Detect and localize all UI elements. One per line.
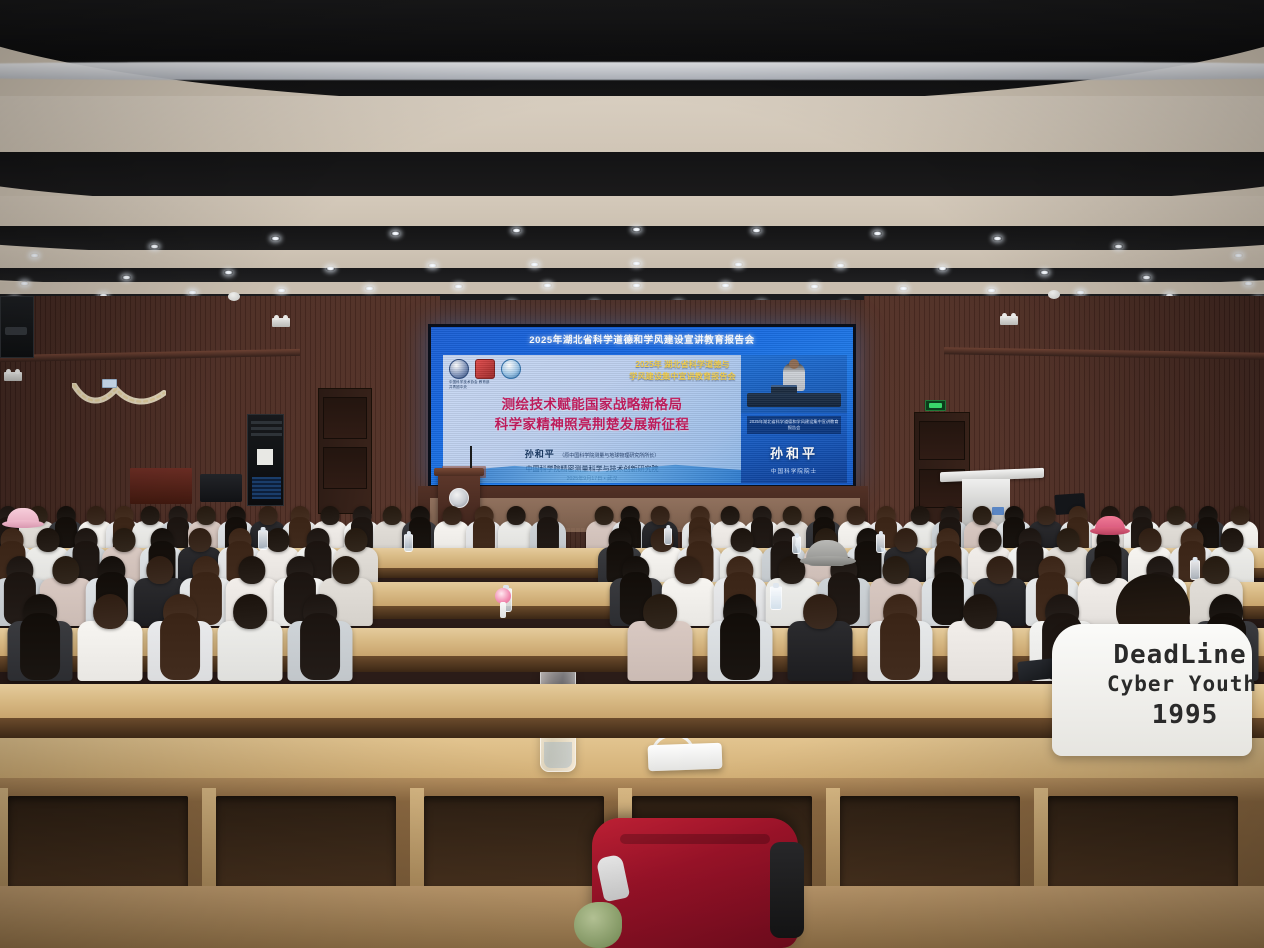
audience-member-head [345,528,368,552]
slide-speaker-name: 孙和平 [525,447,555,460]
audience-member-torso [628,621,693,681]
university-emblem-icon [449,488,469,508]
ceiling-downlight [530,262,539,267]
smoke-detector-right [1048,290,1060,299]
ceiling-downlight [512,228,521,233]
door-panel [919,421,965,460]
audience-member-long-hair [160,613,200,680]
audience-member-head [973,506,992,525]
audience-member-head [113,528,136,552]
rack-vent [251,427,282,430]
speaker-photo-desk [747,393,841,407]
audience-member-long-hair [932,572,964,626]
desk-divider [0,788,8,896]
door-panel [323,397,367,439]
ceiling-light-strip [0,62,1264,80]
baseball-cap-gray [800,540,856,568]
ceiling-downlight [1234,253,1243,258]
audience-member-head [93,594,127,629]
door-panel [323,447,367,489]
audience-member-head [443,506,462,525]
side-panel-speaker-title: 中国科学院院士 [771,467,817,475]
ceiling-downlight [150,244,159,249]
rack-vent [251,433,282,436]
desk-bottle [258,530,268,550]
ceiling-downlight [1142,275,1151,280]
ceiling-downlight [632,261,641,266]
audience-member-head [87,506,106,525]
balloon-garland-decoration [72,383,166,409]
ceiling-downlight [20,281,29,286]
speaker-photo [741,355,847,413]
audience-member-head [383,506,402,525]
audience-member-head [731,528,754,552]
audience-member-head [267,528,290,552]
side-panel-speaker-name: 孙和平 [770,443,818,462]
desk-divider [826,788,840,896]
audience-member-head [321,506,340,525]
led-wall-screen: 2025年湖北省科学道德和学风建设宣讲教育报告会 中国科学技术协会 教育部 共青… [428,324,856,488]
bottle-cap [666,525,670,530]
desk-cubby [216,796,396,888]
av-equipment-box [200,474,242,502]
moe-emblem-icon [475,359,495,379]
bottle-cap [261,527,266,532]
audience-member-head [146,556,173,584]
audience-member-head [979,528,1002,552]
auditorium-ceiling [0,0,1264,332]
audience-member-head [911,506,930,525]
bottle-cap [406,531,410,536]
exit-icon [929,403,942,408]
desk-cubby [1048,796,1238,888]
garland-card [102,379,117,388]
handheld-fan [494,588,512,618]
audience-member-long-hair [720,613,760,680]
audience-member-head [233,594,267,629]
audience-member-head [963,594,997,629]
audience-member-head [52,556,79,584]
audience-member-head [1090,556,1117,584]
audience-member-head [882,556,909,584]
rack-vent [251,421,282,424]
audience-member-head [1139,528,1162,552]
desk-cubby [424,796,604,888]
audience-member-long-hair [880,613,920,680]
audience-member-head [986,556,1013,584]
speaker-grille [5,327,27,335]
logo-caption-line1: 中国科学技术协会 教育部 [449,380,490,384]
rack-label [257,449,273,465]
ceiling-downlight [1114,244,1123,249]
presentation-slide: 中国科学技术协会 教育部 共青团中央 2025年 湖北省科学道德与 学风建设集中… [443,355,847,483]
audience-member-long-hair [20,613,60,680]
audience-member-head [595,506,614,525]
audience-member-head [847,506,866,525]
audience-member-head [895,528,918,552]
desk-cubby [8,796,188,888]
emergency-light-center-left [272,318,290,327]
audience-member-head [37,528,60,552]
baseball-cap-pink [1090,516,1130,536]
bottle-water [544,742,572,768]
audience-member-head [783,506,802,525]
ceiling-downlight [938,266,947,271]
podium-top [434,468,484,476]
audience-member-head [643,594,677,629]
tshirt-text-line2: Cyber Youth [1092,672,1264,696]
backpack-charm [596,854,631,902]
ceiling-dark-band-1 [0,0,1264,106]
desk-divider [202,788,216,896]
desk-bottle [664,528,672,545]
audience-member-head [1221,528,1244,552]
side-table [130,468,192,504]
desk-cubby [840,796,1020,888]
slide-title-line2: 科学家精神照亮荆楚发展新征程 [449,415,735,435]
baseball-cap-light-pink [2,508,44,530]
audience-member-head [189,528,212,552]
desk-bottle [404,534,413,552]
audience-member-long-hair [300,613,340,680]
hall-banner-text: 2025年湖北省科学道德和学风建设宣讲教育报告会 [431,332,853,346]
backpack-strap [620,834,770,844]
emergency-light-right [1000,316,1018,325]
rack-status-leds [252,477,281,499]
audience-member-head [1037,506,1056,525]
audience-member-head [1057,528,1080,552]
audience-member-head [507,506,526,525]
desk-divider [1034,788,1048,896]
audience-member-head [141,506,160,525]
ceiling-downlight [987,288,996,293]
ceiling-downlight [365,286,374,291]
speaker-photo-head [789,359,799,369]
slide-side-panel: 2025年湖北省科学道德和学风建设集中宣讲教育报告会 孙和平 中国科学院院士 [741,355,847,483]
slide-main-panel: 中国科学技术协会 教育部 共青团中央 2025年 湖北省科学道德与 学风建设集中… [443,355,741,483]
audience-member-torso [948,621,1013,681]
side-panel-caption: 2025年湖北省科学道德和学风建设集中宣讲教育报告会 [747,416,841,434]
slide-title: 测绘技术赋能国家战略新格局 科学家精神照亮荆楚发展新征程 [449,395,735,434]
audience-member-torso [788,621,853,681]
audience-member-head [803,594,837,629]
bottle-cap [1193,557,1198,562]
emergency-light-left [4,372,22,381]
side-door-left[interactable] [318,388,372,514]
slide-title-line1: 测绘技术赋能国家战略新格局 [449,395,735,415]
audience-member-head [259,506,278,525]
bottle-cap [773,583,779,588]
wall-speaker-box [0,296,34,358]
desk-bottle [1190,560,1200,580]
cyl-emblem-icon [501,359,521,379]
ceiling-downlight [1244,281,1253,286]
smoke-detector-left [228,292,240,301]
audience-member-head [238,556,265,584]
backpack-green-object [574,902,622,948]
desk-divider [410,788,424,896]
ceiling-downlight [224,270,233,275]
ceiling-downlight [632,227,641,232]
ceiling-downlight [277,288,286,293]
ceiling-downlight [326,266,335,271]
backpack-side-pocket [770,842,804,938]
audience-member-head [332,556,359,584]
cast-emblem-icon [449,359,469,379]
audience-member-head [674,556,701,584]
audience-member-head [651,506,670,525]
desk-bottle [876,534,885,553]
audience-member-head [1167,506,1186,525]
server-rack [247,414,284,506]
screen-surface: 2025年湖北省科学道德和学风建设宣讲教育报告会 中国科学技术协会 教育部 共青… [431,327,853,485]
ceiling-downlight [30,253,39,258]
audience-member-torso [218,621,283,681]
ceiling-downlight [122,275,131,280]
red-backpack [592,818,798,948]
lectern-badge [992,507,1004,515]
bottle-cap [878,531,882,536]
ceiling-downlight [734,262,743,267]
logo-caption-line2: 共青团中央 [449,385,467,389]
audience-member-head [1202,556,1229,584]
audience-member-torso [78,621,143,681]
audience-member-head [197,506,216,525]
exit-sign [925,400,946,411]
power-bank-charger [648,743,723,772]
tshirt-text-line1: DeadLine [1090,640,1264,670]
tshirt-text-line3: 1995 [1110,700,1260,730]
ceiling-downlight [873,231,882,236]
bottle-cap [794,533,798,538]
ceiling-downlight [1040,270,1049,275]
slide-speaker-role: （原中国科学院测量与地球物理研究所所长） [559,453,659,459]
desk-bottle [770,586,782,610]
ceiling-downlight [899,286,908,291]
audience-member-head [721,506,740,525]
lecture-hall-photo: 2025年湖北省科学道德和学风建设宣讲教育报告会 中国科学技术协会 教育部 共青… [0,0,1264,948]
audience-member-head [1231,506,1250,525]
